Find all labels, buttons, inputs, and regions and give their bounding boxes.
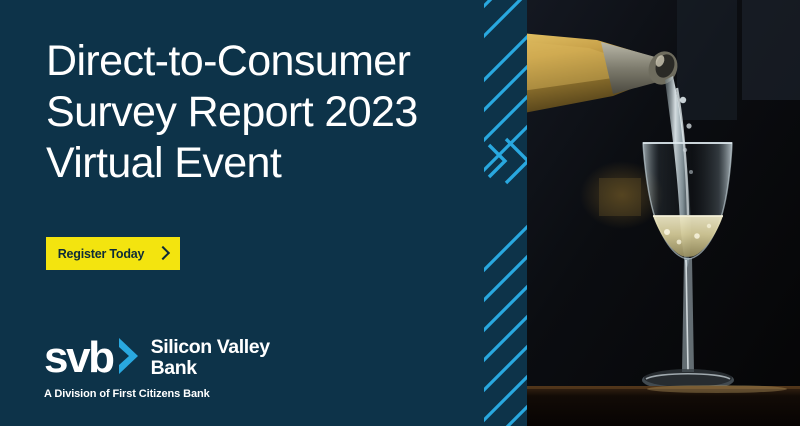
logo-name-line2: Bank	[151, 358, 270, 379]
stripe-svg	[484, 0, 528, 426]
content-panel: Direct-to-Consumer Survey Report 2023 Vi…	[0, 0, 488, 426]
register-today-button-label: Register Today	[58, 247, 145, 261]
diagonal-stripe-pattern	[484, 0, 528, 426]
svb-wordmark: svb	[44, 336, 113, 380]
register-today-button[interactable]: Register Today	[46, 237, 180, 270]
logo-chevron-right-icon	[116, 336, 142, 381]
logo-tagline: A Division of First Citizens Bank	[44, 388, 270, 400]
promo-banner: Direct-to-Consumer Survey Report 2023 Vi…	[0, 0, 800, 426]
logo-name: Silicon Valley Bank	[151, 337, 270, 379]
page-title: Direct-to-Consumer Survey Report 2023 Vi…	[46, 36, 476, 189]
hero-photo	[527, 0, 800, 426]
logo-name-line1: Silicon Valley	[151, 337, 270, 358]
svb-logo[interactable]: svb Silicon Valley Bank A Division of Fi…	[44, 333, 270, 400]
logo-row: svb Silicon Valley Bank	[44, 333, 270, 383]
chevron-right-icon	[156, 246, 170, 260]
